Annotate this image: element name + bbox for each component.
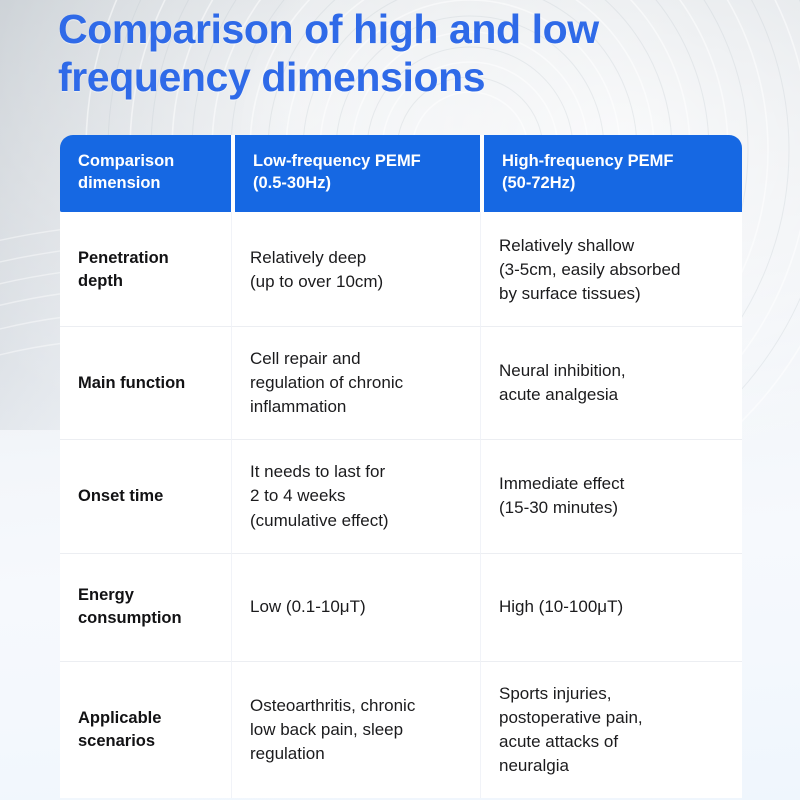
- column-header-low-frequency-pemf: Low-frequency PEMF (0.5-30Hz): [231, 135, 480, 212]
- column-header-main-text: Low-frequency PEMF: [253, 152, 421, 170]
- table-row: Penetration depth Relatively deep (up to…: [60, 212, 742, 326]
- row-label-onset-time: Onset time: [60, 439, 231, 552]
- row-label-main-function: Main function: [60, 326, 231, 439]
- row-label-energy-consumption: Energy consumption: [60, 553, 231, 661]
- cell-low-penetration-depth: Relatively deep (up to over 10cm): [231, 212, 480, 326]
- table-header: Comparison dimension Low-frequency PEMF …: [60, 135, 742, 212]
- comparison-table: Comparison dimension Low-frequency PEMF …: [60, 135, 742, 798]
- cell-low-energy-consumption: Low (0.1-10μT): [231, 553, 480, 661]
- comparison-table-container: Comparison dimension Low-frequency PEMF …: [60, 135, 742, 800]
- table-row: Main function Cell repair and regulation…: [60, 326, 742, 439]
- cell-low-applicable-scenarios: Osteoarthritis, chronic low back pain, s…: [231, 661, 480, 799]
- cell-low-main-function: Cell repair and regulation of chronic in…: [231, 326, 480, 439]
- cell-low-onset-time: It needs to last for 2 to 4 weeks (cumul…: [231, 439, 480, 552]
- column-header-high-frequency-pemf: High-frequency PEMF (50-72Hz): [480, 135, 742, 212]
- table-row: Applicable scenarios Osteoarthritis, chr…: [60, 661, 742, 799]
- cell-high-energy-consumption: High (10-100μT): [480, 553, 742, 661]
- cell-high-main-function: Neural inhibition, acute analgesia: [480, 326, 742, 439]
- table-header-row: Comparison dimension Low-frequency PEMF …: [60, 135, 742, 212]
- row-label-applicable-scenarios: Applicable scenarios: [60, 661, 231, 799]
- column-header-comparison-dimension: Comparison dimension: [60, 135, 231, 212]
- row-label-penetration-depth: Penetration depth: [60, 212, 231, 326]
- table-row: Onset time It needs to last for 2 to 4 w…: [60, 439, 742, 552]
- column-header-main-text: Comparison: [78, 152, 174, 170]
- column-header-sub-text: (50-72Hz): [502, 173, 726, 195]
- table-row: Energy consumption Low (0.1-10μT) High (…: [60, 553, 742, 661]
- column-header-sub-text: dimension: [78, 173, 215, 195]
- cell-high-penetration-depth: Relatively shallow (3-5cm, easily absorb…: [480, 212, 742, 326]
- page-title: Comparison of high and low frequency dim…: [58, 6, 718, 101]
- cell-high-applicable-scenarios: Sports injuries, postoperative pain, acu…: [480, 661, 742, 799]
- cell-high-onset-time: Immediate effect (15-30 minutes): [480, 439, 742, 552]
- infographic-page: Comparison of high and low frequency dim…: [0, 0, 800, 800]
- table-body: Penetration depth Relatively deep (up to…: [60, 212, 742, 799]
- column-header-sub-text: (0.5-30Hz): [253, 173, 464, 195]
- column-header-main-text: High-frequency PEMF: [502, 152, 673, 170]
